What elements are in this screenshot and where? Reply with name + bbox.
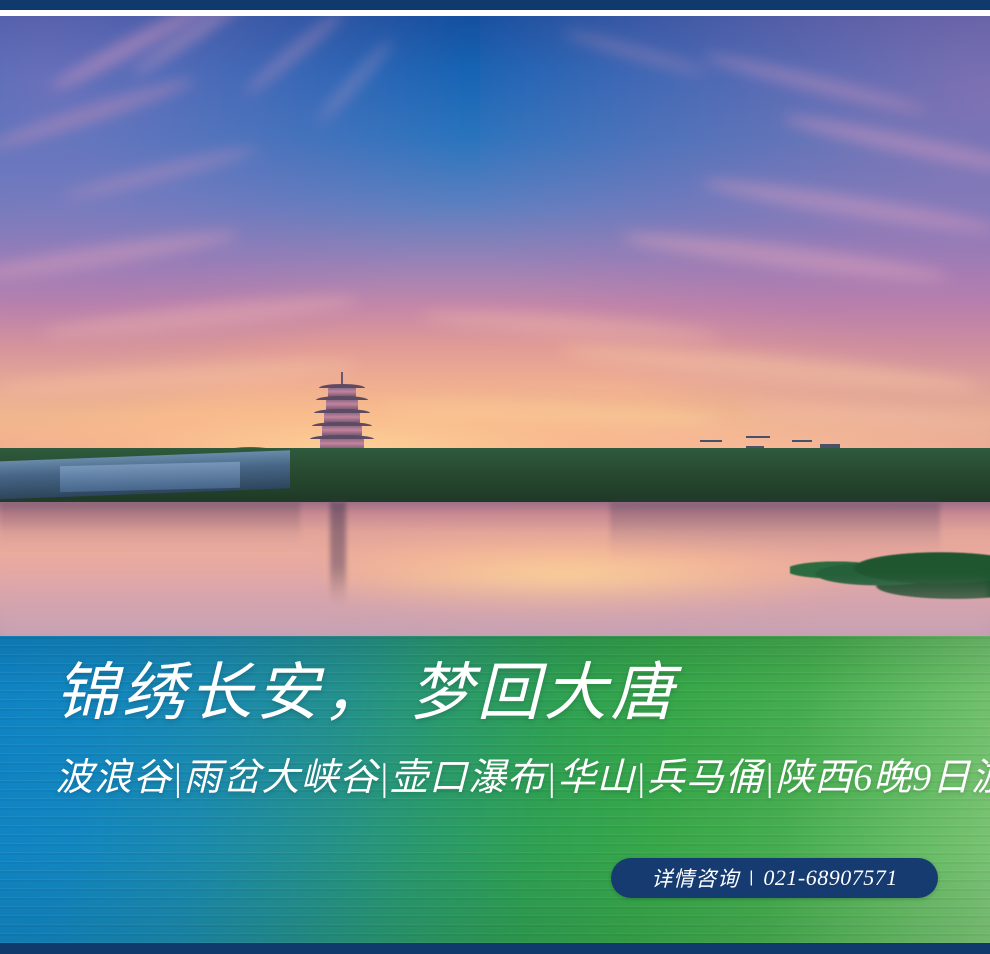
hero-photo bbox=[0, 16, 990, 638]
shore-reflection bbox=[0, 502, 300, 546]
consult-phone-number: 021-68907571 bbox=[763, 865, 897, 891]
glass-museum-roof bbox=[60, 462, 240, 492]
top-rule bbox=[0, 0, 990, 10]
lake-foreground-haze bbox=[0, 576, 990, 638]
consult-button-separator: | bbox=[749, 869, 753, 887]
itinerary-subtitle: 波浪谷|雨岔大峡谷|壶口瀑布|华山|兵马俑|陕西6晚9日游 bbox=[55, 757, 990, 801]
consult-button-label: 详情咨询 bbox=[651, 863, 739, 893]
bottom-rule bbox=[0, 943, 990, 954]
page-title: 锦绣长安， 梦回大唐 bbox=[55, 662, 678, 725]
construction-crane bbox=[746, 436, 770, 438]
consult-button[interactable]: 详情咨询 | 021-68907571 bbox=[611, 858, 938, 898]
travel-promo-banner: 锦绣长安， 梦回大唐 波浪谷|雨岔大峡谷|壶口瀑布|华山|兵马俑|陕西6晚9日游… bbox=[0, 0, 990, 954]
